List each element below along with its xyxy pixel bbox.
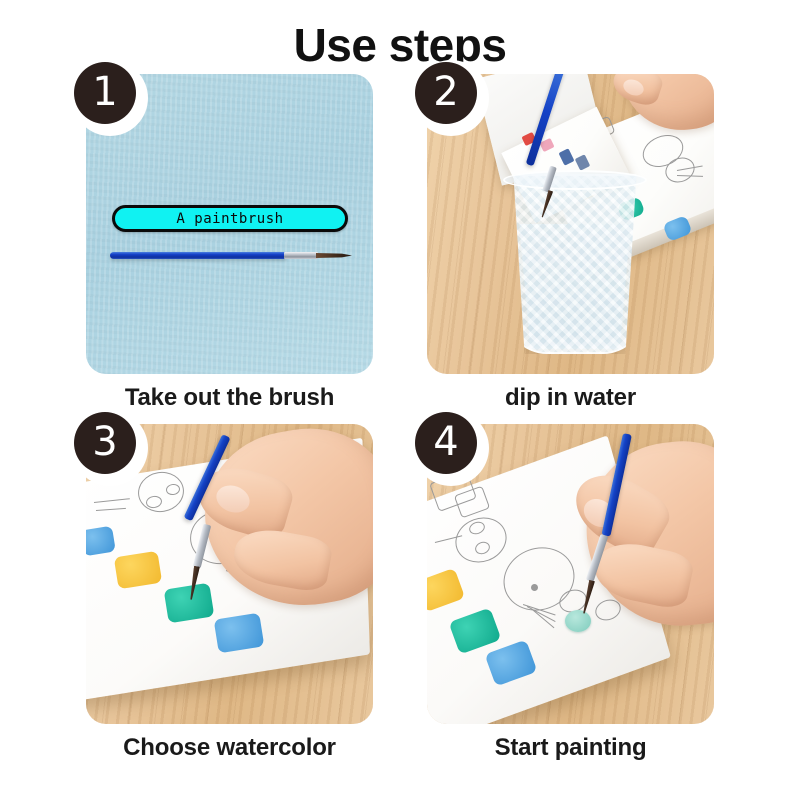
steps-grid: A paintbrush 1 Take out the brush	[0, 74, 800, 762]
step-number-badge-2: 2	[415, 62, 477, 124]
step-number-badge-1: 1	[74, 62, 136, 124]
step-caption-4: Start painting	[409, 734, 732, 762]
line-art-cat-eye-4	[531, 584, 538, 591]
step-number-badge-4: 4	[415, 412, 477, 474]
step-caption-3: Choose watercolor	[68, 734, 391, 762]
step-panel-3: 3	[86, 424, 373, 724]
swatch-blue-3	[214, 613, 265, 654]
step-panel-1: A paintbrush 1	[86, 74, 373, 374]
glass-rim	[503, 170, 647, 190]
step-number-badge-3: 3	[74, 412, 136, 474]
paintbrush-label-text: A paintbrush	[176, 211, 283, 227]
brush-ferrule	[284, 252, 318, 259]
paintbrush-illustration	[110, 249, 350, 261]
brush-tip	[316, 253, 352, 258]
swatch-teal-3	[164, 583, 215, 624]
swatch-yellow-3	[114, 551, 162, 589]
step-cell-2: 2 dip in water	[409, 74, 732, 412]
brush-handle	[110, 252, 286, 259]
step-cell-1: A paintbrush 1 Take out the brush	[68, 74, 391, 412]
step-cell-3: 3 Choose watercolor	[68, 424, 391, 762]
step-caption-2: dip in water	[409, 384, 732, 412]
paintbrush-label-pill: A paintbrush	[112, 205, 348, 232]
step-cell-4: 4 Start painting	[409, 424, 732, 762]
step-panel-4: 4	[427, 424, 714, 724]
drinking-glass	[505, 174, 645, 354]
step-caption-1: Take out the brush	[68, 384, 391, 412]
step-panel-2: 2	[427, 74, 714, 374]
applied-paint-blob	[565, 610, 591, 632]
